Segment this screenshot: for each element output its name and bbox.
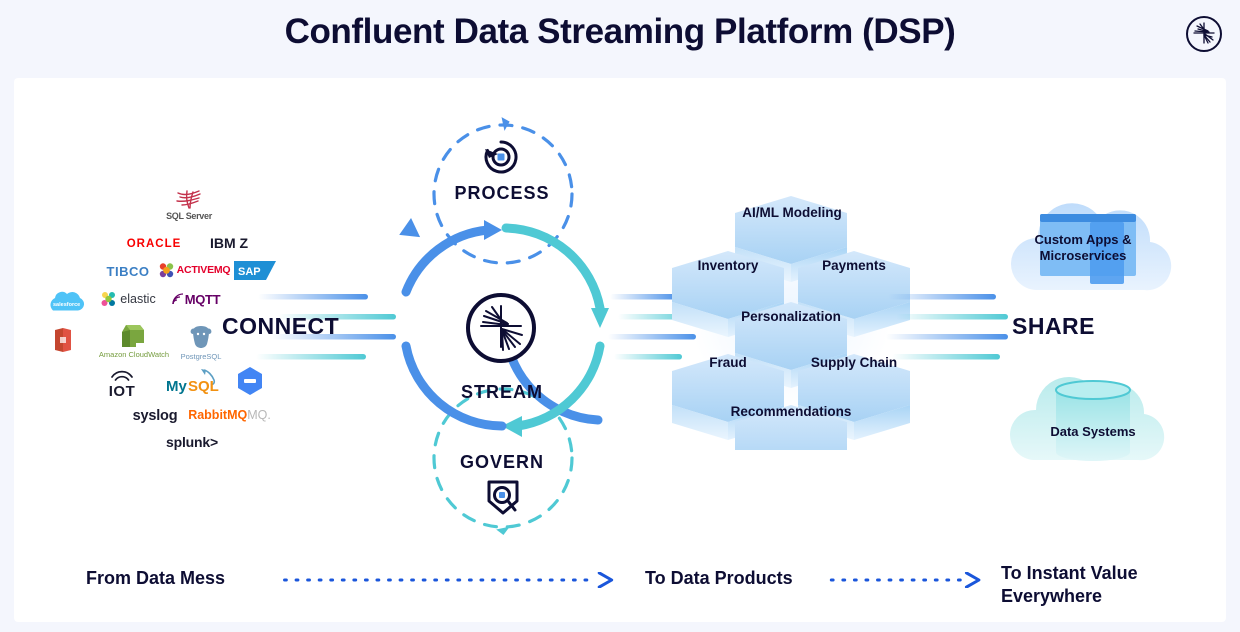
- hex-label-inventory: Inventory: [658, 258, 798, 273]
- process-label: PROCESS: [450, 183, 554, 204]
- govern-label: GOVERN: [448, 452, 556, 473]
- source-label-rabbitmq: RabbitMQ: [188, 408, 247, 422]
- footer-arrow-2: [820, 572, 992, 588]
- database-cloud-icon: [1000, 358, 1200, 473]
- hex-label-recommendations: Recommendations: [721, 404, 861, 419]
- svg-text:SQL: SQL: [188, 378, 219, 395]
- share-label: SHARE: [1012, 313, 1095, 340]
- stream-label: STREAM: [452, 382, 552, 403]
- hex-label-ai-ml: AI/ML Modeling: [722, 205, 862, 220]
- source-logo-sap: SAP: [232, 260, 278, 280]
- footer-step-instant-value: To Instant Value Everywhere: [1001, 562, 1138, 607]
- source-label-ibmz: IBM Z: [210, 235, 248, 251]
- source-label-postgresql: PostgreSQL: [181, 352, 222, 361]
- hex-label-personalization: Personalization: [721, 309, 861, 324]
- stream-confluent-icon: [462, 289, 540, 372]
- source-logo-cloudwatch: Amazon CloudWatch: [92, 320, 176, 362]
- source-label-oracle: ORACLE: [127, 238, 182, 250]
- source-label-splunk: splunk>: [166, 434, 218, 450]
- source-logo-iot: IOT: [100, 364, 144, 402]
- source-label-sqlserver: SQL Server: [166, 211, 212, 221]
- share-label-data-systems: Data Systems: [1028, 424, 1158, 440]
- source-logo-activemq: ACTIVEMQ: [155, 260, 233, 280]
- source-logo-splunk: splunk>: [160, 432, 224, 452]
- source-logo-sqlserver: SQL Server: [158, 186, 220, 224]
- source-label-tibco: TIBCO: [107, 264, 150, 279]
- footer-step-from-data-mess: From Data Mess: [86, 567, 225, 590]
- source-logo-oracle: ORACLE: [120, 236, 188, 252]
- page-title: Confluent Data Streaming Platform (DSP): [0, 12, 1240, 52]
- source-label-elastic: elastic: [120, 292, 155, 306]
- share-label-custom-apps: Custom Apps & Microservices: [1018, 232, 1148, 265]
- source-logo-rabbitmq: RabbitMQ MQ.: [188, 405, 270, 425]
- source-label-activemq: ACTIVEMQ: [177, 264, 231, 276]
- source-label-mysql: My: [166, 378, 187, 395]
- products-to-share-line-bundle: [886, 286, 1016, 366]
- source-label-cloudwatch: Amazon CloudWatch: [99, 350, 169, 359]
- source-logo-ibmz: IBM Z: [203, 234, 255, 252]
- footer-step-to-data-products: To Data Products: [645, 567, 793, 590]
- hex-label-payments: Payments: [784, 258, 924, 273]
- source-label-syslog: syslog: [133, 408, 178, 424]
- source-logo-amazon-s3: [50, 326, 76, 354]
- process-cycle-icon: [482, 138, 520, 181]
- source-logo-salesforce: salesforce: [42, 286, 86, 318]
- source-logo-elastic: elastic: [92, 289, 164, 309]
- source-label-iot: IOT: [109, 383, 136, 400]
- hex-label-fraud: Fraud: [658, 355, 798, 370]
- source-logo-mqtt: MQTT: [163, 290, 229, 308]
- connect-label: CONNECT: [222, 313, 339, 340]
- source-logo-syslog: syslog: [124, 406, 186, 426]
- footer-arrow-1: [262, 572, 636, 588]
- cycle-arrow-top: [406, 220, 502, 292]
- source-logo-mysql: My SQL: [162, 366, 224, 398]
- source-logo-google-pubsub: [234, 366, 266, 396]
- slide-canvas: Confluent Data Streaming Platform (DSP): [0, 0, 1240, 632]
- source-label-mqtt: MQTT: [185, 292, 221, 307]
- svg-text:salesforce: salesforce: [53, 302, 80, 308]
- govern-shield-search-icon: [485, 478, 521, 521]
- source-logo-tibco: TIBCO: [98, 262, 158, 280]
- source-label-sap: SAP: [238, 266, 261, 278]
- confluent-logo-icon: [1182, 12, 1226, 56]
